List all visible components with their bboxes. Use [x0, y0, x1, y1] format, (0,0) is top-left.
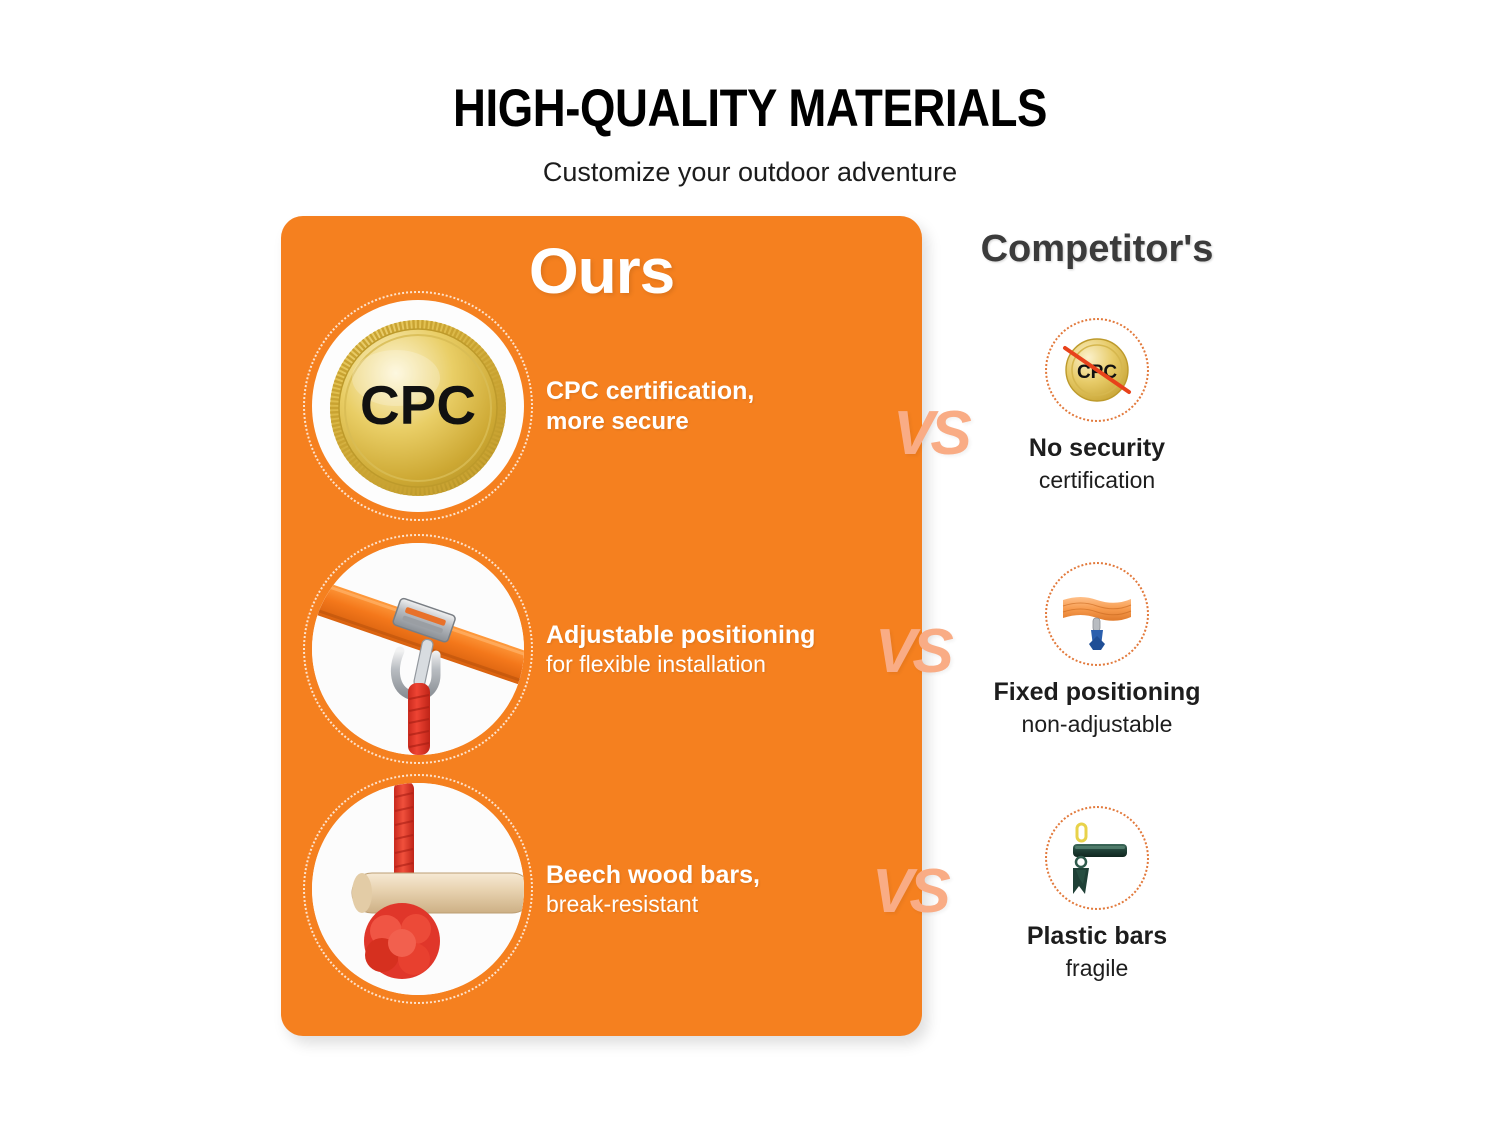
competitor-line1: Plastic bars — [902, 922, 1292, 951]
ours-feature-image-3 — [303, 774, 533, 1004]
vs-divider-1: VS — [893, 398, 968, 469]
competitor-line1: Fixed positioning — [902, 678, 1292, 707]
competitor-icon-wrap-2 — [1045, 562, 1149, 666]
ours-feature-text-3: Beech wood bars, break-resistant — [546, 774, 760, 1004]
competitor-icon-wrap-1: CPC — [1045, 318, 1149, 422]
ours-feature-line2: for flexible installation — [546, 650, 815, 678]
photo-circle: CPC — [312, 300, 524, 512]
ours-feature-image-1: CPC — [303, 291, 533, 521]
ours-feature-line2: break-resistant — [546, 890, 760, 918]
vs-divider-2: VS — [875, 616, 950, 687]
ours-feature-text-2: Adjustable positioning for flexible inst… — [546, 534, 815, 764]
competitor-line2: fragile — [902, 955, 1292, 982]
photo-circle — [312, 543, 524, 755]
ours-panel: Ours — [281, 216, 922, 1036]
ours-feature-line1: Beech wood bars, — [546, 860, 760, 891]
cpc-gold-seal-icon: CPC — [312, 300, 524, 512]
ours-feature-row: Adjustable positioning for flexible inst… — [281, 534, 922, 764]
fixed-strap-carabiner-icon — [1055, 572, 1139, 656]
competitor-row: Fixed positioning non-adjustable — [902, 562, 1292, 738]
beech-wood-bar-rope-photo — [312, 783, 524, 995]
cpc-seal-crossed-out-icon: CPC — [1055, 328, 1139, 412]
ours-feature-line2: more secure — [546, 407, 754, 436]
competitor-row: Plastic bars fragile — [902, 806, 1292, 982]
ours-feature-line1: CPC certification, — [546, 376, 754, 407]
competitor-icon-wrap-3 — [1045, 806, 1149, 910]
vs-divider-3: VS — [872, 856, 947, 927]
comparison-section: Ours — [0, 0, 1500, 1125]
ours-feature-line1: Adjustable positioning — [546, 620, 815, 651]
ours-feature-row: CPC CPC certification, more secure — [281, 291, 922, 521]
competitor-heading: Competitor's — [902, 228, 1292, 271]
ours-feature-text-1: CPC certification, more secure — [546, 291, 754, 521]
ours-feature-row: Beech wood bars, break-resistant — [281, 774, 922, 1004]
ours-feature-image-2 — [303, 534, 533, 764]
strap-buckle-carabiner-photo — [312, 543, 524, 755]
photo-circle — [312, 783, 524, 995]
svg-text:CPC: CPC — [360, 374, 476, 436]
competitor-line2: non-adjustable — [902, 711, 1292, 738]
plastic-bar-icon — [1055, 816, 1139, 900]
competitor-line2: certification — [902, 467, 1292, 494]
